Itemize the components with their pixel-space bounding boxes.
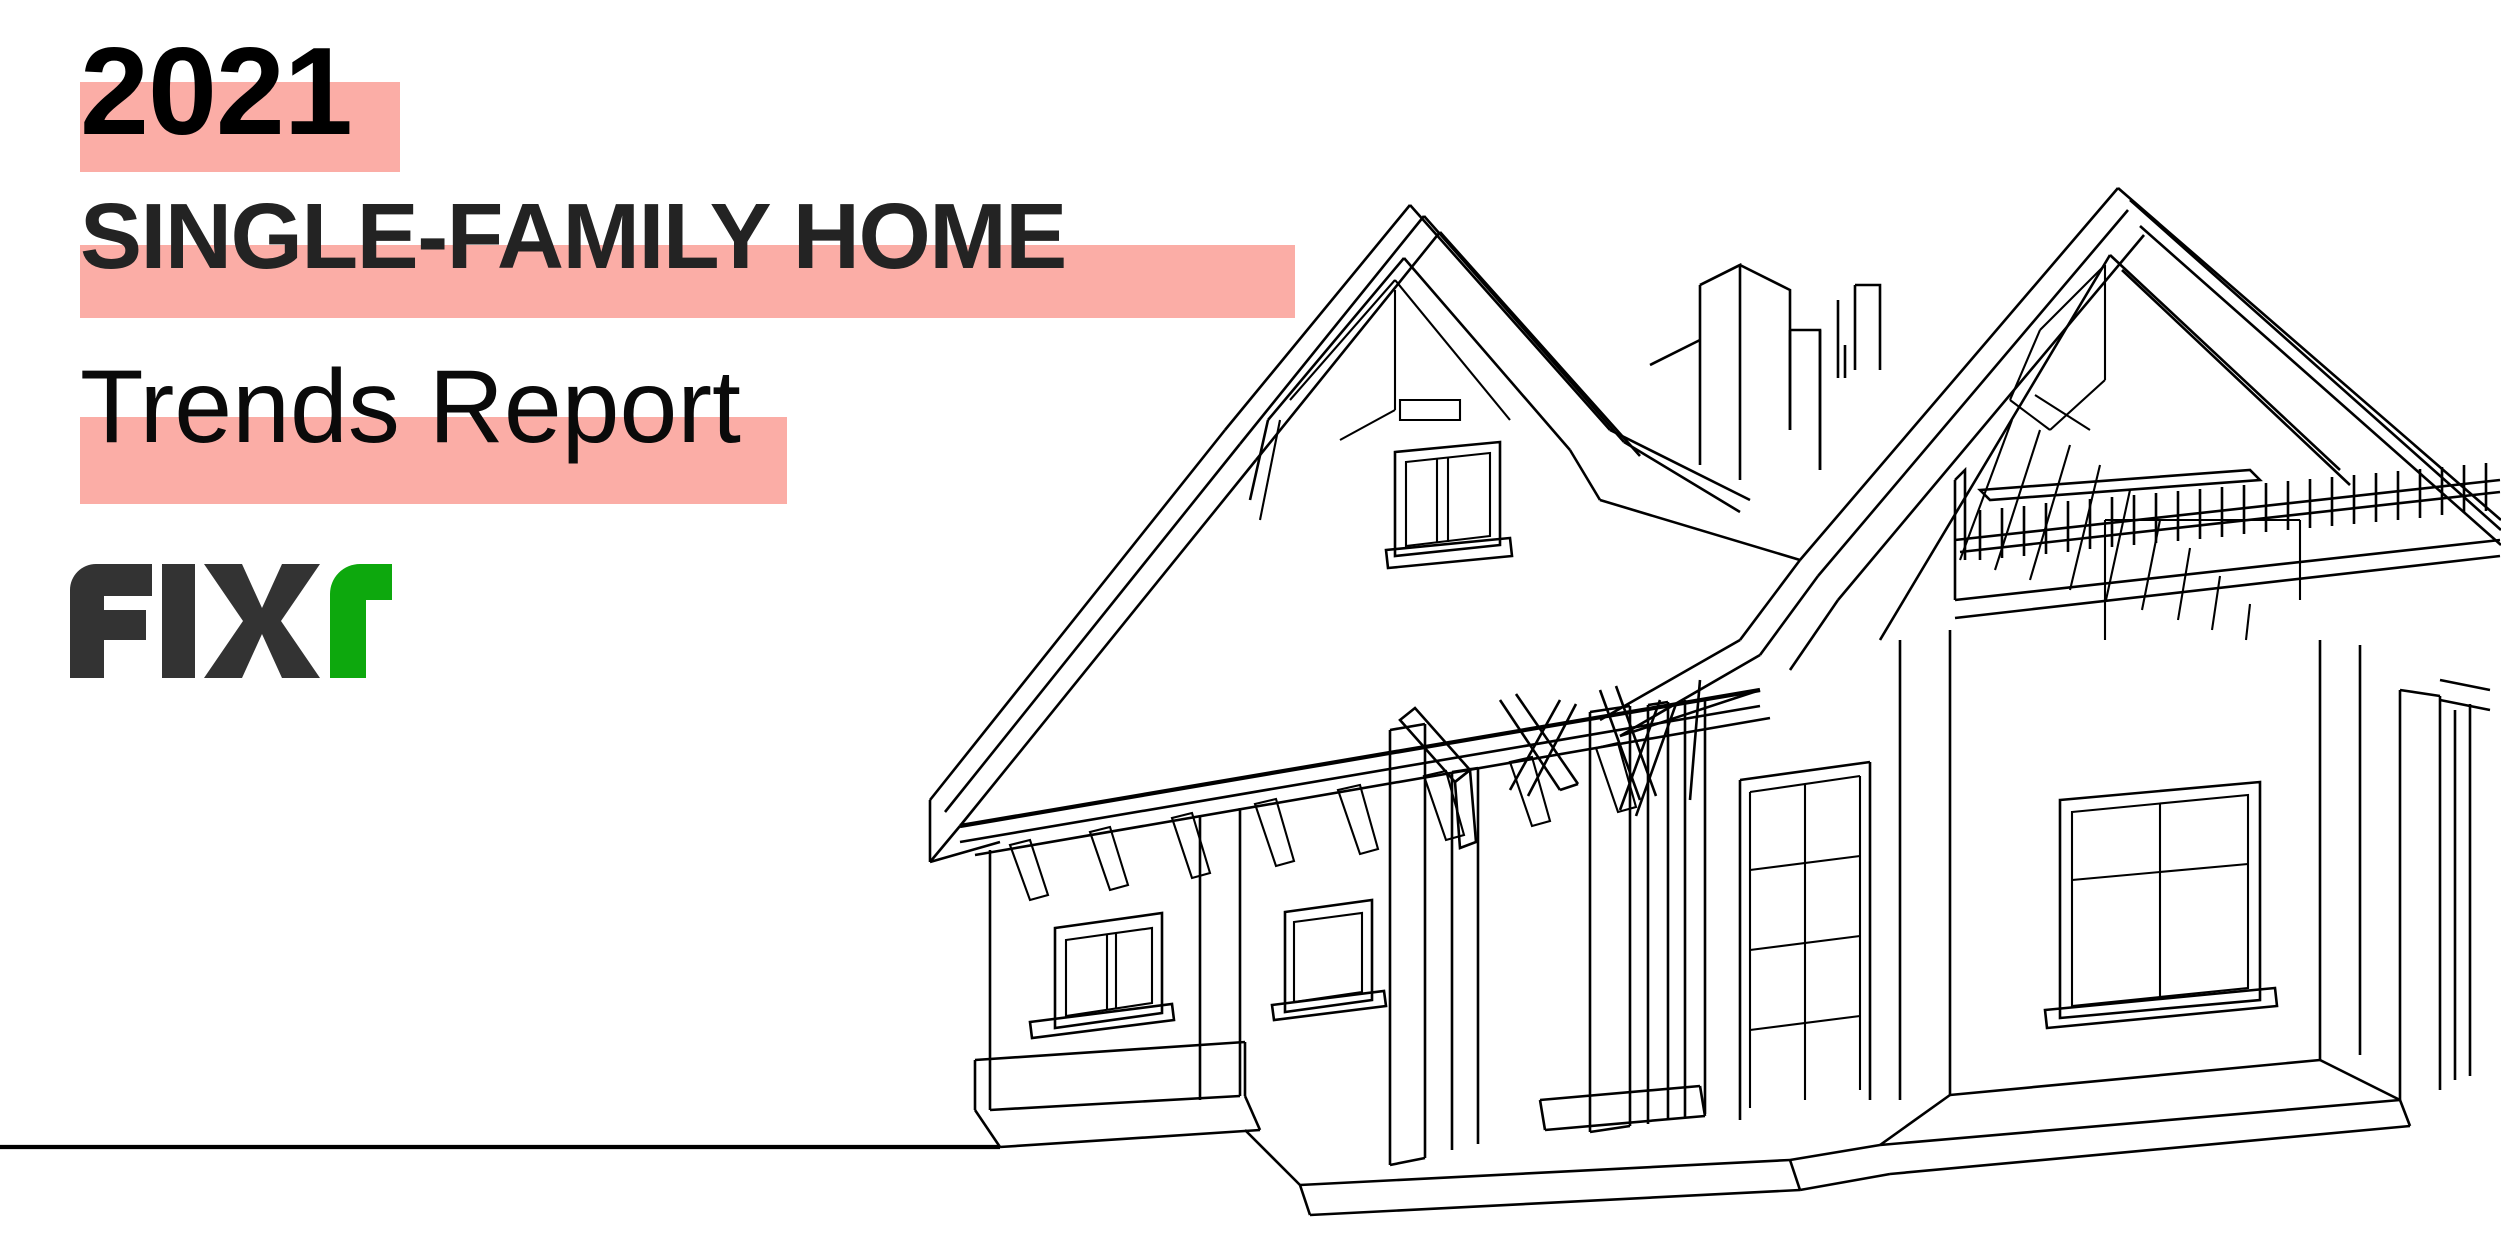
balcony-railing	[1955, 463, 2500, 618]
chimney	[1650, 265, 1790, 480]
right-corner-trim	[2400, 680, 2490, 1100]
report-cover-page: 2021 SINGLE-FAMILY HOME Trends Report FI…	[0, 0, 2501, 1251]
logo-letter-f	[70, 564, 152, 678]
headline-title-label: SINGLE-FAMILY HOME	[80, 184, 1066, 288]
foundation	[975, 1042, 1260, 1147]
right-wall-window	[2045, 782, 2277, 1028]
left-wall-window-2	[1272, 900, 1386, 1020]
main-gable-roof	[1600, 188, 2501, 736]
logo-letter-i	[162, 564, 195, 678]
logo-letter-r-accent	[330, 564, 392, 678]
headline-subtitle-label: Trends Report	[80, 349, 741, 465]
fixr-logo[interactable]: FIXR	[66, 560, 396, 680]
right-wall	[1900, 630, 2360, 1100]
logo-letter-x	[204, 564, 320, 678]
left-wall-window	[1030, 913, 1174, 1038]
headline-year-label: 2021	[80, 23, 352, 161]
main-roof-plane	[930, 430, 1800, 862]
headline-year: 2021	[80, 30, 352, 154]
headline-subtitle: Trends Report	[80, 355, 741, 459]
porch-posts	[1390, 698, 1705, 1165]
dormer-window	[1386, 442, 1512, 568]
headline-title: SINGLE-FAMILY HOME	[80, 190, 1066, 283]
porch-slab	[1245, 1060, 2410, 1215]
front-door	[1740, 762, 1870, 1120]
chimney-flues	[1790, 285, 1880, 470]
